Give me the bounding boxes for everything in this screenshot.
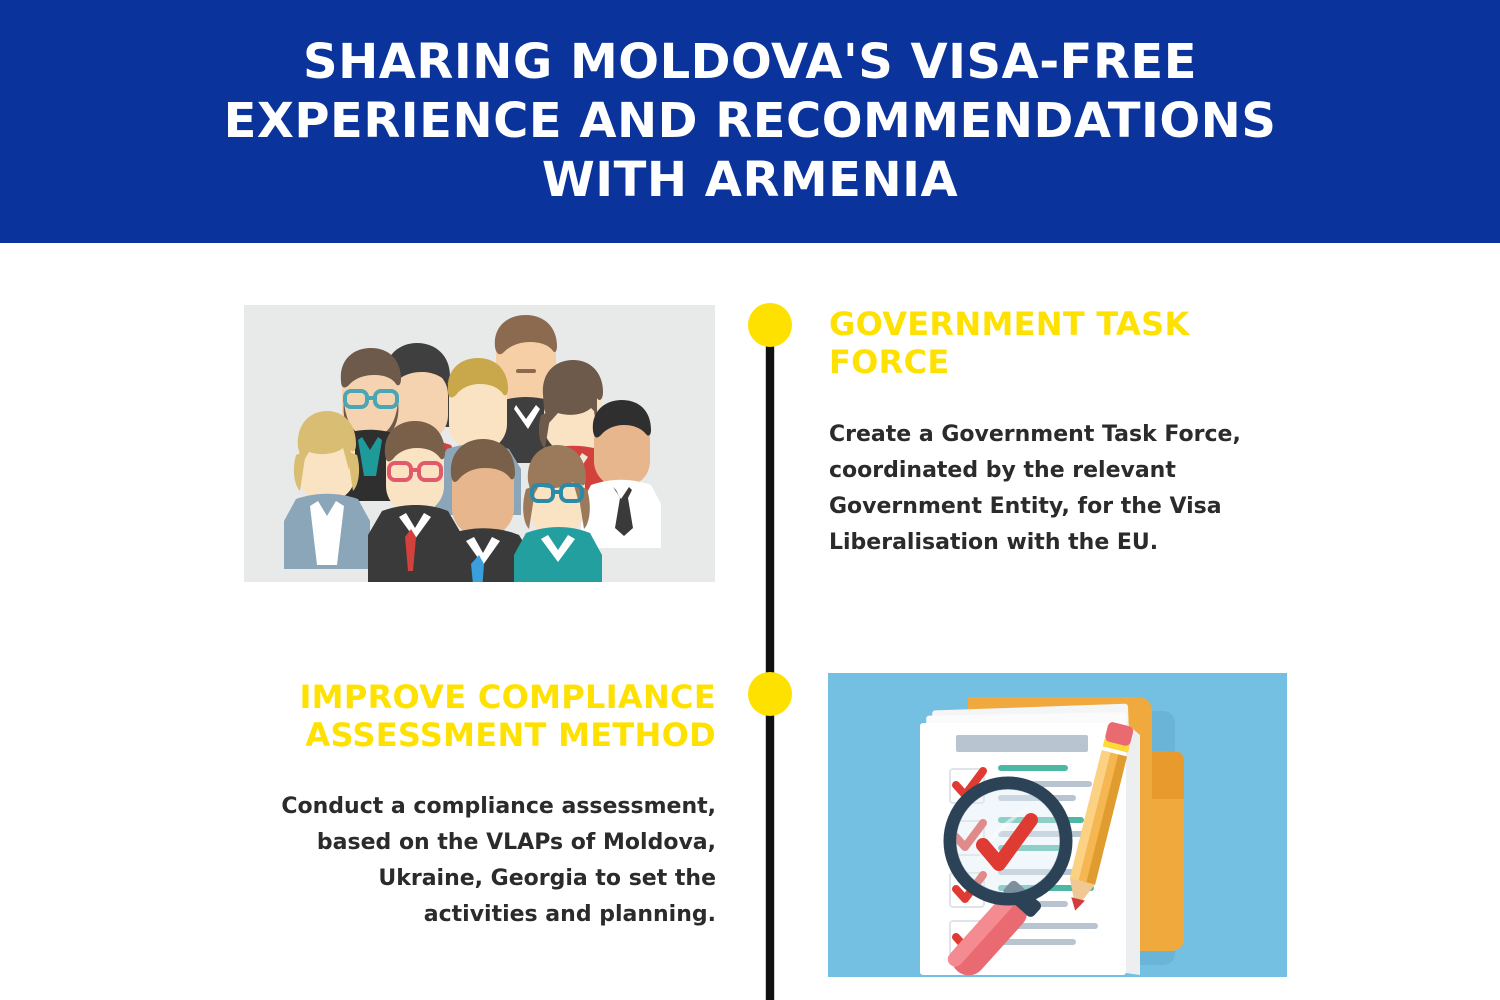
section-body-government-task-force: Create a Government Task Force, coordina…: [829, 417, 1287, 561]
timeline-vertical-line: [765, 325, 775, 1000]
timeline-dot-government-task-force: [748, 303, 792, 347]
section-body-improve-compliance: Conduct a compliance assessment, based o…: [246, 789, 716, 933]
checklist-document-illustration: [828, 673, 1287, 977]
header-banner: SHARING MOLDOVA'S VISA-FREE EXPERIENCE A…: [0, 0, 1500, 243]
page-title: SHARING MOLDOVA'S VISA-FREE EXPERIENCE A…: [160, 33, 1340, 210]
timeline-dot-improve-compliance: [748, 672, 792, 716]
section-heading-improve-compliance: IMPROVE COMPLIANCE ASSESSMENT METHOD: [246, 678, 716, 754]
section-government-task-force: GOVERNMENT TASK FORCE Create a Governmen…: [829, 305, 1287, 561]
section-heading-government-task-force: GOVERNMENT TASK FORCE: [829, 305, 1287, 381]
group-of-people-illustration: [244, 305, 715, 582]
section-improve-compliance: IMPROVE COMPLIANCE ASSESSMENT METHOD Con…: [246, 678, 716, 933]
